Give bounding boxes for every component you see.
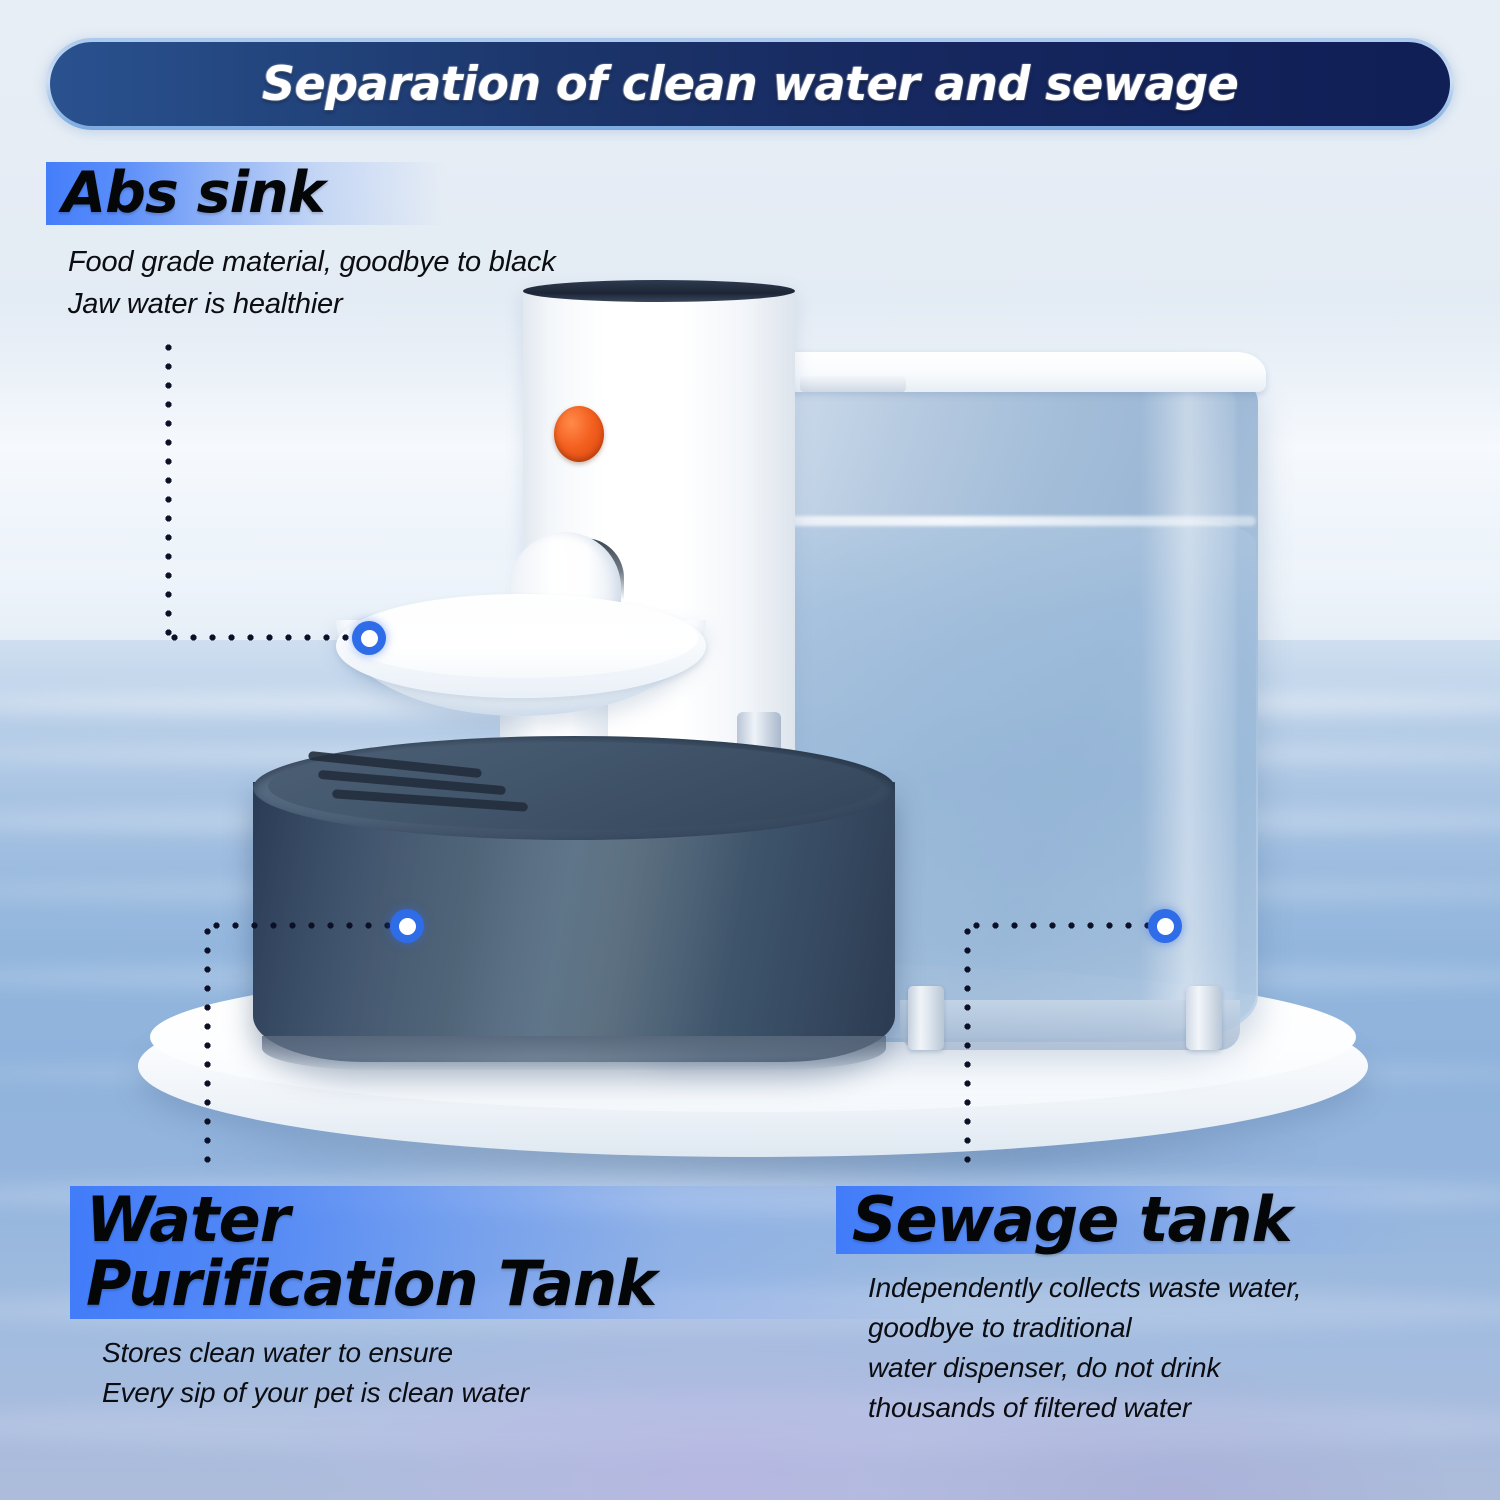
marker-dot-purification[interactable] — [390, 909, 424, 943]
callout-sewage-heading: Sewage tank — [852, 1188, 1292, 1252]
callout-sewage-heading-bar: Sewage tank — [836, 1186, 1422, 1254]
drinking-bowl-rim — [344, 598, 698, 678]
header-banner: Separation of clean water and sewage — [46, 38, 1454, 130]
header-banner-inner: Separation of clean water and sewage — [50, 42, 1450, 126]
callout-abs-sink: Abs sink Food grade material, goodbye to… — [46, 162, 556, 325]
sewage-tank-clip — [1186, 986, 1222, 1050]
callout-sewage-tank: Sewage tank Independently collects waste… — [836, 1186, 1422, 1427]
purification-tank-foot — [262, 1036, 886, 1070]
page-title: Separation of clean water and sewage — [262, 57, 1238, 112]
callout-purification-heading: Water Purification Tank — [86, 1188, 656, 1317]
dispenser-column-top — [523, 280, 795, 302]
callout-purification-body: Stores clean water to ensure Every sip o… — [102, 1333, 956, 1413]
leader-segment-vertical — [204, 922, 211, 1164]
callout-abs-sink-body: Food grade material, goodbye to black Ja… — [68, 241, 556, 325]
callout-sewage-body: Independently collects waste water, good… — [868, 1268, 1422, 1427]
power-button-icon[interactable] — [554, 406, 604, 462]
sewage-tank-latch — [800, 376, 906, 392]
sewage-tank-clip — [908, 986, 944, 1050]
leader-segment-horizontal — [207, 922, 396, 929]
marker-dot-abs-sink[interactable] — [352, 621, 386, 655]
infographic-canvas: Separation of clean water and sewage Abs… — [0, 0, 1500, 1500]
marker-dot-sewage[interactable] — [1148, 909, 1182, 943]
leader-segment-vertical — [165, 338, 172, 638]
leader-segment-horizontal — [165, 634, 361, 641]
leader-segment-horizontal — [967, 922, 1156, 929]
purification-tank-top-inner — [268, 742, 880, 830]
callout-abs-sink-heading-bar: Abs sink — [46, 162, 445, 225]
callout-abs-sink-heading: Abs sink — [62, 164, 325, 223]
callout-purification-tank: Water Purification Tank Stores clean wat… — [70, 1186, 956, 1412]
leader-segment-vertical — [964, 922, 971, 1164]
callout-purification-heading-bar: Water Purification Tank — [70, 1186, 956, 1319]
